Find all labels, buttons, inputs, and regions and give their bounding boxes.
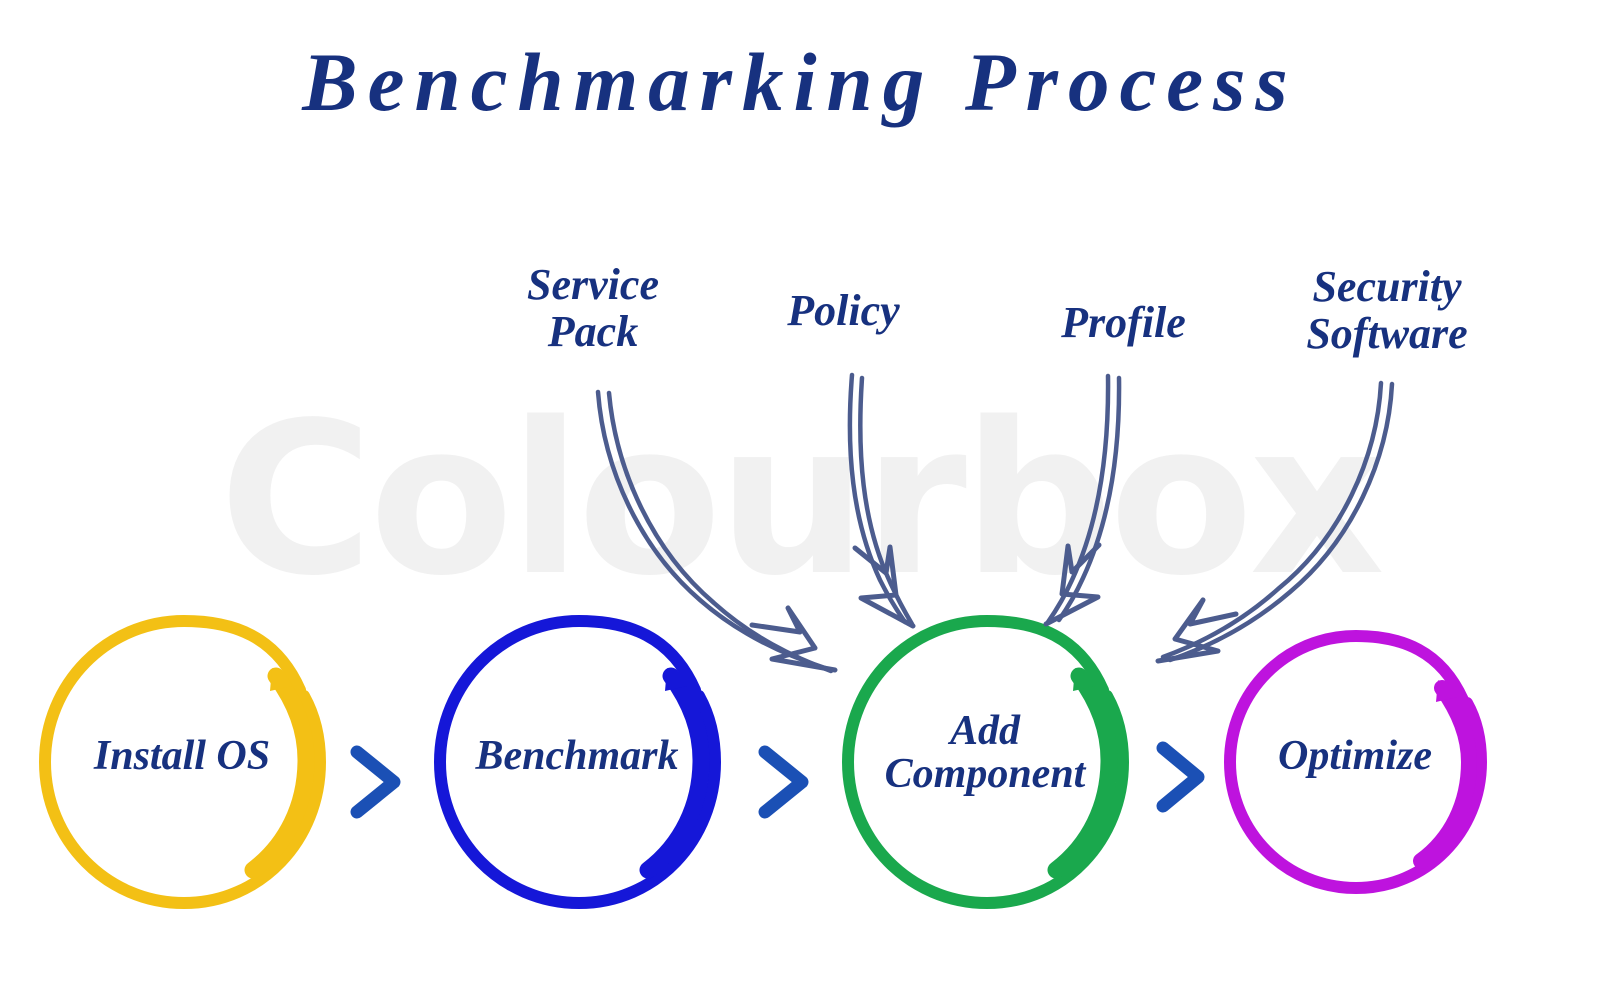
node-label-add-component: Add Component — [840, 710, 1130, 796]
input-label-policy: Policy — [771, 288, 916, 335]
input-label-profile: Profile — [1046, 300, 1201, 347]
node-label-install-os-line-1: Install OS — [42, 735, 322, 778]
node-label-benchmark: Benchmark — [432, 735, 722, 778]
input-label-policy-line-1: Policy — [787, 286, 899, 335]
input-label-service-pack-line-1: Service — [527, 260, 659, 309]
input-label-service-pack: Service Pack — [503, 262, 683, 355]
input-label-service-pack-line-2: Pack — [503, 309, 683, 356]
arrow-security-software — [1158, 383, 1392, 661]
input-label-security-software-line-1: Security — [1312, 262, 1461, 311]
node-label-add-component-line-1: Add — [840, 710, 1130, 753]
chevron-add-component-to-optimize[interactable] — [1163, 748, 1198, 806]
node-label-benchmark-line-1: Benchmark — [432, 735, 722, 778]
input-label-security-software: Security Software — [1288, 264, 1486, 357]
arrow-policy — [850, 375, 913, 626]
node-label-optimize-line-1: Optimize — [1225, 735, 1485, 778]
diagram-graphics — [0, 0, 1600, 995]
node-label-add-component-line-2: Component — [840, 753, 1130, 796]
arrow-profile — [1046, 376, 1119, 624]
input-label-profile-line-1: Profile — [1061, 298, 1186, 347]
chevron-install-os-to-benchmark[interactable] — [357, 752, 394, 812]
diagram-canvas: Colourbox Benchmarking Process — [0, 0, 1600, 995]
input-label-security-software-line-2: Software — [1288, 311, 1486, 358]
node-label-optimize: Optimize — [1225, 735, 1485, 778]
node-label-install-os: Install OS — [42, 735, 322, 778]
chevron-benchmark-to-add-component[interactable] — [765, 752, 802, 812]
